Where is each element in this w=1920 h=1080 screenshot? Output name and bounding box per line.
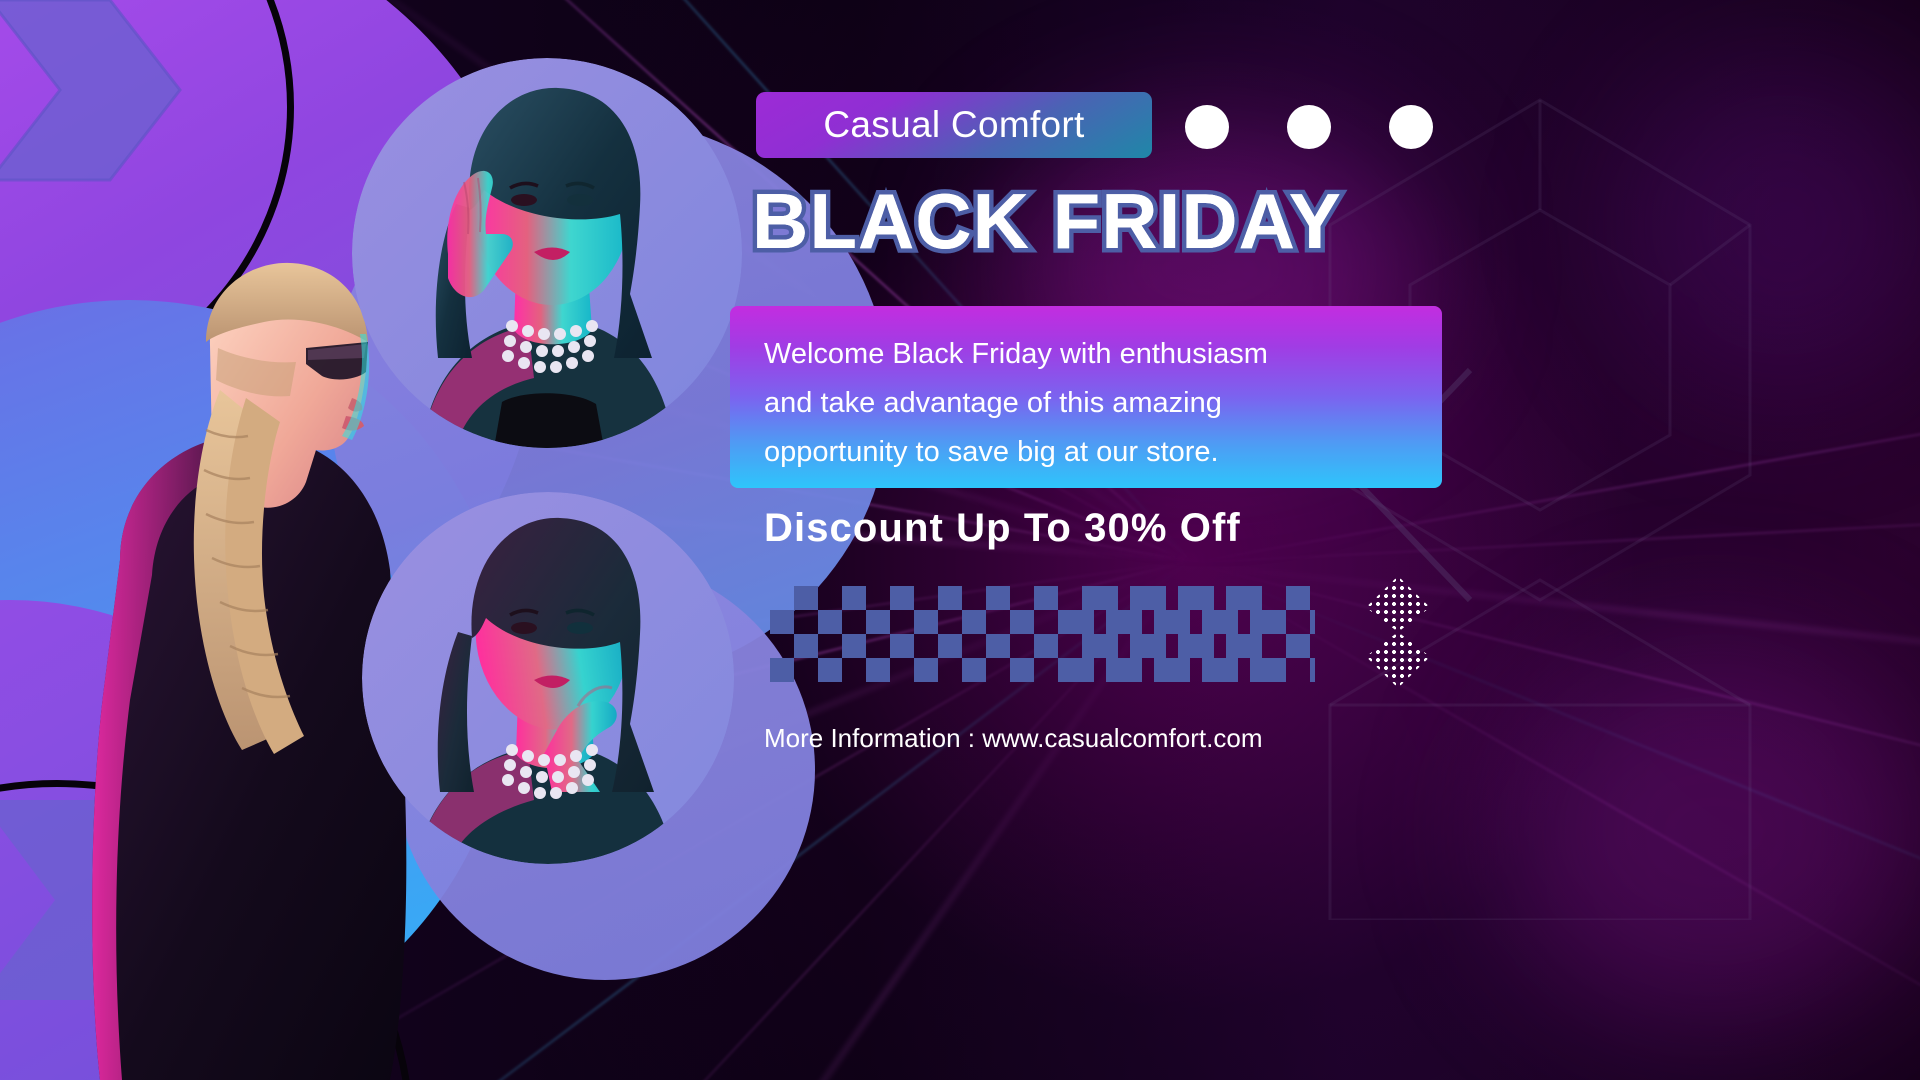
description-line-1: Welcome Black Friday with enthusiasm [764,330,1424,379]
description-line-2: and take advantage of this amazing [764,379,1424,428]
more-information-text: More Information : www.casualcomfort.com [764,723,1263,754]
model-photo-upper [352,58,742,448]
circle-dot-icon-2 [1287,105,1331,149]
description-text: Welcome Black Friday with enthusiasm and… [764,330,1424,477]
circle-dot-icon-1 [1185,105,1229,149]
brand-badge-label: Casual Comfort [823,104,1084,146]
chevron-arrow-icon-top [0,0,190,190]
brand-badge[interactable]: Casual Comfort [756,92,1152,158]
discount-headline: Discount Up To 30% Off [764,506,1464,551]
checkerboard-pattern-right [1070,586,1315,682]
description-line-3: opportunity to save big at our store. [764,428,1424,477]
page-title: BLACK FRIDAY [752,182,1452,260]
decor-dots [1185,105,1433,149]
black-friday-banner: Casual Comfort BLACK FRIDAY BLACK FRIDAY… [0,0,1920,1080]
model-photo-lower [362,492,734,864]
circle-dot-icon-3 [1389,105,1433,149]
